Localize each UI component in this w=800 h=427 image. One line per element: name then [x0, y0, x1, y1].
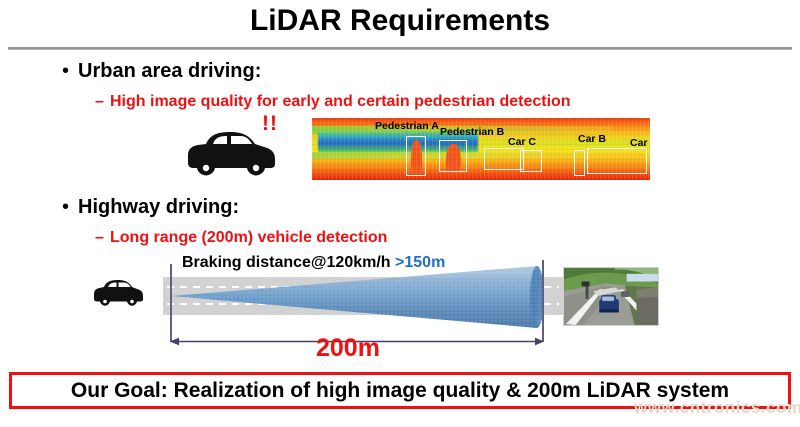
- bullet-highway-label: Highway driving:: [78, 196, 239, 219]
- heatmap-label-pedestrian-a: Pedestrian A: [375, 120, 439, 132]
- heatmap-label-pedestrian-b: Pedestrian B: [440, 126, 504, 138]
- distance-label-200m: 200m: [316, 334, 380, 363]
- goal-statement-text: Our Goal: Realization of high image qual…: [71, 379, 729, 403]
- bullet-urban-area-driving: • Urban area driving:: [62, 60, 261, 83]
- dash-icon: –: [95, 94, 110, 110]
- braking-distance-text: Braking distance@120km/h: [182, 254, 391, 271]
- watermark: www.cntronics.com: [634, 398, 800, 418]
- detection-box: [587, 148, 647, 174]
- heatmap-label-car-b: Car B: [578, 133, 606, 145]
- page-title: LiDAR Requirements: [0, 4, 800, 38]
- slide-canvas: LiDAR Requirements • Urban area driving:…: [0, 0, 800, 427]
- highway-road-photo: [563, 267, 659, 326]
- subbullet-highway-label: Long range (200m) vehicle detection: [110, 229, 387, 247]
- exclamation-icon: !!: [262, 112, 278, 136]
- detection-box: [520, 150, 542, 172]
- bullet-urban-label: Urban area driving:: [78, 60, 261, 83]
- braking-distance-label: Braking distance@120km/h >150m: [182, 254, 445, 272]
- measure-line-end: [542, 260, 544, 342]
- subbullet-highway-detail: – Long range (200m) vehicle detection: [95, 229, 387, 247]
- subbullet-urban-label: High image quality for early and certain…: [110, 93, 571, 111]
- car-icon: [93, 278, 145, 306]
- bullet-highway-driving: • Highway driving:: [62, 196, 239, 219]
- lidar-beam-cone: [171, 264, 543, 330]
- detection-box: [406, 136, 426, 176]
- subbullet-urban-detail: – High image quality for early and certa…: [95, 93, 571, 111]
- detection-box: [439, 140, 467, 172]
- dash-icon: –: [95, 230, 110, 246]
- braking-distance-value: >150m: [395, 254, 445, 271]
- title-divider: [8, 47, 792, 50]
- depth-heatmap-image: Pedestrian A Pedestrian B Car C Car B Ca…: [312, 118, 650, 180]
- bullet-dot-icon: •: [62, 61, 78, 81]
- heatmap-label-car-c: Car C: [508, 136, 536, 148]
- detection-box: [574, 150, 585, 176]
- heatmap-label-car-a: Car A: [630, 137, 650, 149]
- detection-box: [484, 148, 524, 170]
- measure-line-start: [170, 264, 172, 342]
- bullet-dot-icon: •: [62, 197, 78, 217]
